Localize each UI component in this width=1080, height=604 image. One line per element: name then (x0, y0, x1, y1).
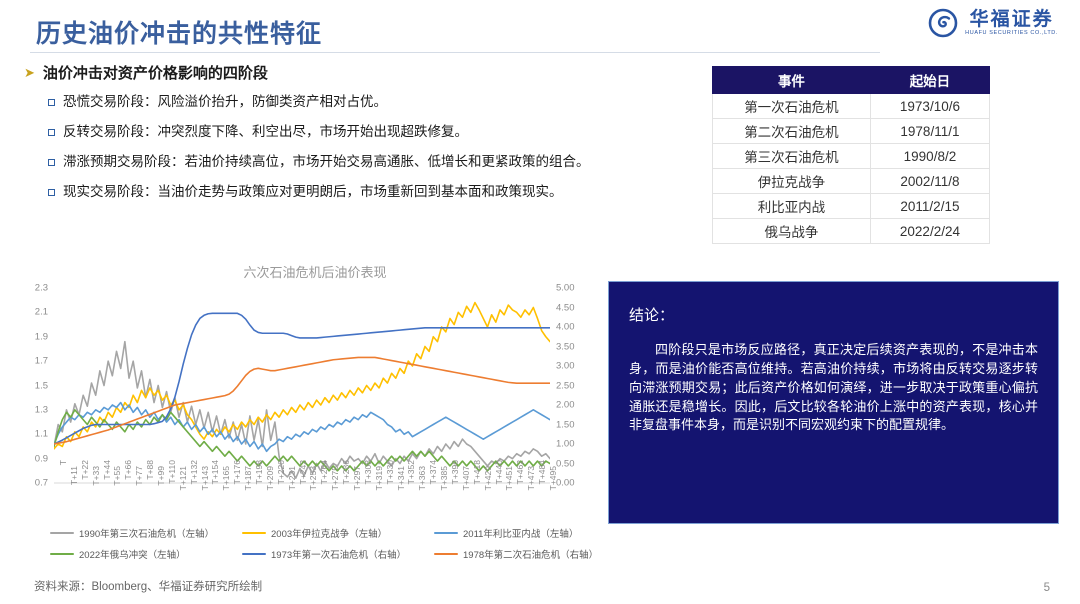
logo-text: 华福证券 HUAFU SECURITIES CO.,LTD. (965, 10, 1058, 37)
chart-x-tick: T+286 (341, 460, 351, 484)
legend-label: 2003年伊拉克战争（左轴） (271, 526, 387, 540)
chart-x-tick: T+473 (526, 466, 536, 490)
chart-x-tick: T+385 (439, 466, 449, 490)
chart-x-tick: T+110 (167, 460, 177, 484)
bullet-item-label: 恐慌交易阶段：风险溢价抬升，防御类资产相对占优。 (63, 94, 387, 111)
table-cell-date: 2011/2/15 (870, 194, 989, 219)
chart-x-tick: T+308 (363, 460, 373, 484)
chart-x-tick: T+275 (330, 466, 340, 490)
chart-x-tick: T+165 (221, 466, 231, 490)
chart-x-tick: T+242 (298, 460, 308, 484)
table-header-date: 起始日 (870, 67, 989, 94)
legend-swatch-icon (50, 553, 74, 556)
chart-legend: 1990年第三次石油危机（左轴）2003年伊拉克战争（左轴）2011年利比亚内战… (50, 526, 594, 568)
bullet-heading-label: 油价冲击对资产价格影响的四阶段 (43, 62, 268, 83)
legend-item: 2003年伊拉克战争（左轴） (242, 526, 434, 540)
conclusion-body: 四阶段只是市场反应路径，真正决定后续资产表现的，不是冲击本身，而是油价能否高位维… (629, 341, 1038, 435)
chart-x-tick: T+220 (276, 460, 286, 484)
legend-swatch-icon (242, 553, 266, 556)
chart-right-tick: 2.00 (556, 400, 575, 411)
chart-left-tick: 1.7 (35, 356, 48, 367)
chart-x-tick: T+374 (428, 460, 438, 484)
bullet-item-label: 反转交易阶段：冲突烈度下降、利空出尽，市场开始出现超跌修复。 (63, 124, 468, 141)
legend-item: 1990年第三次石油危机（左轴） (50, 526, 242, 540)
bullet-item-label: 现实交易阶段：当油价走势与政策应对更明朗后，市场重新回到基本面和政策现实。 (63, 184, 563, 201)
chart-right-tick: 3.50 (556, 341, 575, 352)
chart-x-tick: T+407 (461, 466, 471, 490)
chart-right-tick: 3.00 (556, 361, 575, 372)
bullet-item-label: 滞涨预期交易阶段：若油价持续高位，市场开始交易高通胀、低增长和更紧政策的组合。 (63, 154, 590, 171)
chart-x-tick: T+330 (385, 460, 395, 484)
chart-x-tick: T+154 (210, 460, 220, 484)
legend-swatch-icon (434, 553, 458, 556)
square-bullet-icon (48, 129, 55, 136)
brand-logo: 华福证券 HUAFU SECURITIES CO.,LTD. (928, 8, 1058, 38)
chart-left-tick: 1.5 (35, 380, 48, 391)
page-number: 5 (1044, 582, 1050, 594)
chart-x-tick: T+319 (374, 466, 384, 490)
legend-item: 2011年利比亚内战（左轴） (434, 526, 594, 540)
logo-name-cn: 华福证券 (970, 10, 1054, 30)
chart-x-tick: T+121 (178, 466, 188, 490)
slide: 历史油价冲击的共性特征 华福证券 HUAFU SECURITIES CO.,LT… (0, 0, 1080, 604)
table-header-row: 事件 起始日 (713, 67, 990, 94)
conclusion-title: 结论： (629, 304, 1038, 325)
chart-right-tick: 1.50 (556, 419, 575, 430)
chart-right-tick: 4.50 (556, 302, 575, 313)
chart-left-tick: 0.7 (35, 478, 48, 489)
chart-right-tick: 2.50 (556, 380, 575, 391)
chart-x-tick: T+198 (254, 460, 264, 484)
chart-x-tick: T+44 (102, 460, 112, 480)
chart-x-tick: T+253 (308, 466, 318, 490)
legend-swatch-icon (434, 532, 458, 535)
chart-right-tick: 5.00 (556, 283, 575, 294)
legend-item: 1973年第一次石油危机（右轴） (242, 547, 434, 561)
table-row: 俄乌战争2022/2/24 (713, 219, 990, 244)
chart-x-tick: T+209 (265, 466, 275, 490)
table-cell-date: 1990/8/2 (870, 144, 989, 169)
chart-x-tick: T+99 (156, 466, 166, 486)
table-cell-event: 第一次石油危机 (713, 94, 871, 119)
square-bullet-icon (48, 189, 55, 196)
legend-swatch-icon (50, 532, 74, 535)
table-row: 利比亚内战2011/2/15 (713, 194, 990, 219)
chart-left-tick: 2.3 (35, 283, 48, 294)
chart-x-tick: T (58, 460, 68, 465)
chart-x-tick: T+88 (145, 460, 155, 480)
chart-x-tick: T+451 (504, 466, 514, 490)
chart-right-tick: 4.00 (556, 322, 575, 333)
table-row: 第一次石油危机1973/10/6 (713, 94, 990, 119)
triangle-right-icon: ➤ (24, 66, 35, 79)
chart-x-tick: T+363 (417, 466, 427, 490)
chart-left-tick: 1.9 (35, 331, 48, 342)
bullet-item: 反转交易阶段：冲突烈度下降、利空出尽，市场开始出现超跌修复。 (48, 124, 704, 141)
oil-price-chart: 六次石油危机后油价表现 0.70.91.11.31.51.71.92.12.3 … (14, 258, 594, 570)
legend-label: 1978年第二次石油危机（右轴） (463, 547, 594, 561)
chart-left-tick: 1.3 (35, 404, 48, 415)
chart-x-tick: T+77 (134, 466, 144, 486)
chart-x-tick: T+143 (200, 466, 210, 490)
table-cell-date: 2002/11/8 (870, 169, 989, 194)
slide-header: 历史油价冲击的共性特征 华福证券 HUAFU SECURITIES CO.,LT… (0, 0, 1080, 54)
source-note: 资料来源：Bloomberg、华福证券研究所绘制 (34, 578, 262, 594)
chart-left-tick: 1.1 (35, 429, 48, 440)
legend-label: 2022年俄乌冲突（左轴） (79, 547, 186, 561)
legend-swatch-icon (242, 532, 266, 535)
legend-label: 2011年利比亚内战（左轴） (463, 526, 578, 540)
table-cell-date: 1978/11/1 (870, 119, 989, 144)
page-title: 历史油价冲击的共性特征 (36, 14, 322, 50)
chart-x-tick: T+55 (112, 466, 122, 486)
chart-x-tick: T+22 (80, 460, 90, 480)
chart-x-axis-labels: TT+11T+22T+33T+44T+55T+66T+77T+88T+99T+1… (54, 456, 548, 512)
chart-x-tick: T+176 (232, 460, 242, 484)
chart-x-tick: T+396 (450, 460, 460, 484)
table-cell-date: 1973/10/6 (870, 94, 989, 119)
chart-x-tick: T+440 (494, 460, 504, 484)
chart-x-tick: T+495 (548, 466, 558, 490)
chart-x-tick: T+187 (243, 466, 253, 490)
chart-left-tick: 0.9 (35, 453, 48, 464)
table-header-event: 事件 (713, 67, 871, 94)
chart-x-tick: T+341 (396, 466, 406, 490)
table-cell-event: 俄乌战争 (713, 219, 871, 244)
chart-x-tick: T+231 (287, 466, 297, 490)
spiral-logo-icon (928, 8, 958, 38)
chart-x-tick: T+11 (69, 466, 79, 485)
table-cell-event: 利比亚内战 (713, 194, 871, 219)
table-cell-event: 伊拉克战争 (713, 169, 871, 194)
event-table: 事件 起始日 第一次石油危机1973/10/6第二次石油危机1978/11/1第… (712, 66, 990, 244)
logo-name-en: HUAFU SECURITIES CO.,LTD. (965, 30, 1058, 36)
chart-x-tick: T+297 (352, 466, 362, 490)
table-row: 第三次石油危机1990/8/2 (713, 144, 990, 169)
bullet-item: 恐慌交易阶段：风险溢价抬升，防御类资产相对占优。 (48, 94, 704, 111)
bullet-section: ➤ 油价冲击对资产价格影响的四阶段 恐慌交易阶段：风险溢价抬升，防御类资产相对占… (24, 62, 704, 214)
table-cell-event: 第二次石油危机 (713, 119, 871, 144)
chart-x-tick: T+352 (406, 460, 416, 484)
bullet-item: 滞涨预期交易阶段：若油价持续高位，市场开始交易高通胀、低增长和更紧政策的组合。 (48, 154, 704, 171)
bullet-item: 现实交易阶段：当油价走势与政策应对更明朗后，市场重新回到基本面和政策现实。 (48, 184, 704, 201)
header-divider (30, 52, 880, 53)
square-bullet-icon (48, 159, 55, 166)
conclusion-box: 结论： 四阶段只是市场反应路径，真正决定后续资产表现的，不是冲击本身，而是油价能… (608, 281, 1059, 524)
chart-x-tick: T+66 (123, 460, 133, 480)
chart-x-tick: T+418 (472, 460, 482, 484)
table-cell-event: 第三次石油危机 (713, 144, 871, 169)
chart-x-tick: T+33 (91, 466, 101, 486)
legend-label: 1990年第三次石油危机（左轴） (79, 526, 214, 540)
chart-x-tick: T+429 (483, 466, 493, 490)
chart-right-axis: 0.000.501.001.502.002.503.003.504.004.50… (550, 288, 582, 483)
chart-left-tick: 2.1 (35, 307, 48, 318)
chart-right-tick: 1.00 (556, 439, 575, 450)
table-cell-date: 2022/2/24 (870, 219, 989, 244)
chart-lines (54, 288, 550, 484)
legend-item: 1978年第二次石油危机（右轴） (434, 547, 594, 561)
chart-right-tick: 0.50 (556, 458, 575, 469)
bullet-heading: ➤ 油价冲击对资产价格影响的四阶段 (24, 62, 704, 83)
square-bullet-icon (48, 99, 55, 106)
chart-left-axis: 0.70.91.11.31.51.71.92.12.3 (20, 288, 48, 483)
legend-label: 1973年第一次石油危机（右轴） (271, 547, 406, 561)
legend-item: 2022年俄乌冲突（左轴） (50, 547, 242, 561)
chart-x-tick: T+132 (189, 460, 199, 484)
chart-title: 六次石油危机后油价表现 (14, 262, 594, 281)
chart-x-tick: T+264 (319, 460, 329, 484)
chart-right-tick: 0.00 (556, 478, 575, 489)
chart-x-tick: T+484 (537, 460, 547, 484)
table-row: 伊拉克战争2002/11/8 (713, 169, 990, 194)
table-row: 第二次石油危机1978/11/1 (713, 119, 990, 144)
chart-x-tick: T+462 (515, 460, 525, 484)
